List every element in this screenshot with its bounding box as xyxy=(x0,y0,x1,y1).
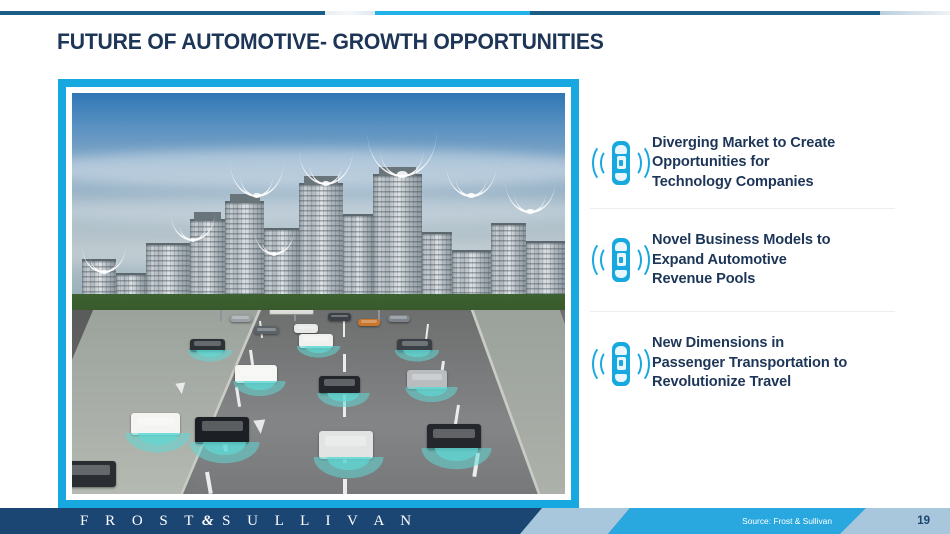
list-item-label: Diverging Market to Create Opportunities… xyxy=(652,134,835,192)
brand-first: F R O S T xyxy=(80,513,200,530)
rule-segment-gap xyxy=(325,11,375,15)
wifi-signal-icon xyxy=(299,149,353,185)
list-item[interactable]: New Dimensions in Passenger Transportati… xyxy=(590,311,895,414)
slide: FUTURE OF AUTOMOTIVE- GROWTH OPPORTUNITI… xyxy=(0,0,950,534)
truck xyxy=(269,310,313,316)
list-item-label: New Dimensions in Passenger Transportati… xyxy=(652,334,847,392)
connected-car-photo xyxy=(72,93,565,494)
list-item-line: Diverging Market to Create xyxy=(652,134,835,153)
list-item-line: Revolutionize Travel xyxy=(652,373,847,392)
list-item-line: New Dimensions in xyxy=(652,334,847,353)
rule-segment-navy-left xyxy=(0,11,325,15)
list-item-line: Novel Business Models to xyxy=(652,231,830,250)
wifi-signal-icon xyxy=(506,181,555,213)
car xyxy=(72,461,116,487)
list-item[interactable]: Novel Business Models to Expand Automoti… xyxy=(590,208,895,311)
wifi-signal-icon xyxy=(230,161,284,197)
top-accent-rule xyxy=(0,11,950,15)
wifi-signal-icon xyxy=(254,229,293,255)
brand-logo: F R O S T & S U L L I V A N xyxy=(80,508,418,534)
wifi-signal-icon xyxy=(368,133,437,177)
list-item-label: Novel Business Models to Expand Automoti… xyxy=(652,231,830,289)
list-item-line: Opportunities for xyxy=(652,153,835,172)
list-item-line: Technology Companies xyxy=(652,173,835,192)
list-item[interactable]: Diverging Market to Create Opportunities… xyxy=(590,118,895,208)
rule-segment-fade xyxy=(880,11,950,15)
car xyxy=(427,424,481,450)
page-number: 19 xyxy=(917,508,930,534)
rule-segment-navy-right xyxy=(530,11,880,15)
car xyxy=(319,431,373,459)
highway xyxy=(72,310,565,494)
car xyxy=(195,417,249,445)
list-item-line: Revenue Pools xyxy=(652,270,830,289)
photo-mat xyxy=(66,87,571,500)
footer-bar: F R O S T & S U L L I V A N Source: Fros… xyxy=(0,508,950,534)
rule-segment-cyan xyxy=(375,11,530,15)
list-item-line: Expand Automotive xyxy=(652,251,830,270)
growth-opportunities-list: Diverging Market to Create Opportunities… xyxy=(590,118,895,415)
page-title: FUTURE OF AUTOMOTIVE- GROWTH OPPORTUNITI… xyxy=(57,29,604,55)
wifi-signal-icon xyxy=(171,213,215,241)
car xyxy=(131,413,180,435)
wifi-signal-icon xyxy=(82,245,126,273)
connected-car-icon xyxy=(590,232,652,288)
connected-car-icon xyxy=(590,336,652,392)
photo-frame xyxy=(58,79,579,508)
wifi-signal-icon xyxy=(447,165,496,197)
source-note: Source: Frost & Sullivan xyxy=(742,508,832,534)
car xyxy=(319,376,361,394)
brand-ampersand: & xyxy=(200,513,222,530)
connected-car-icon xyxy=(590,135,652,191)
list-item-line: Passenger Transportation to xyxy=(652,354,847,373)
brand-last: S U L L I V A N xyxy=(222,513,417,530)
